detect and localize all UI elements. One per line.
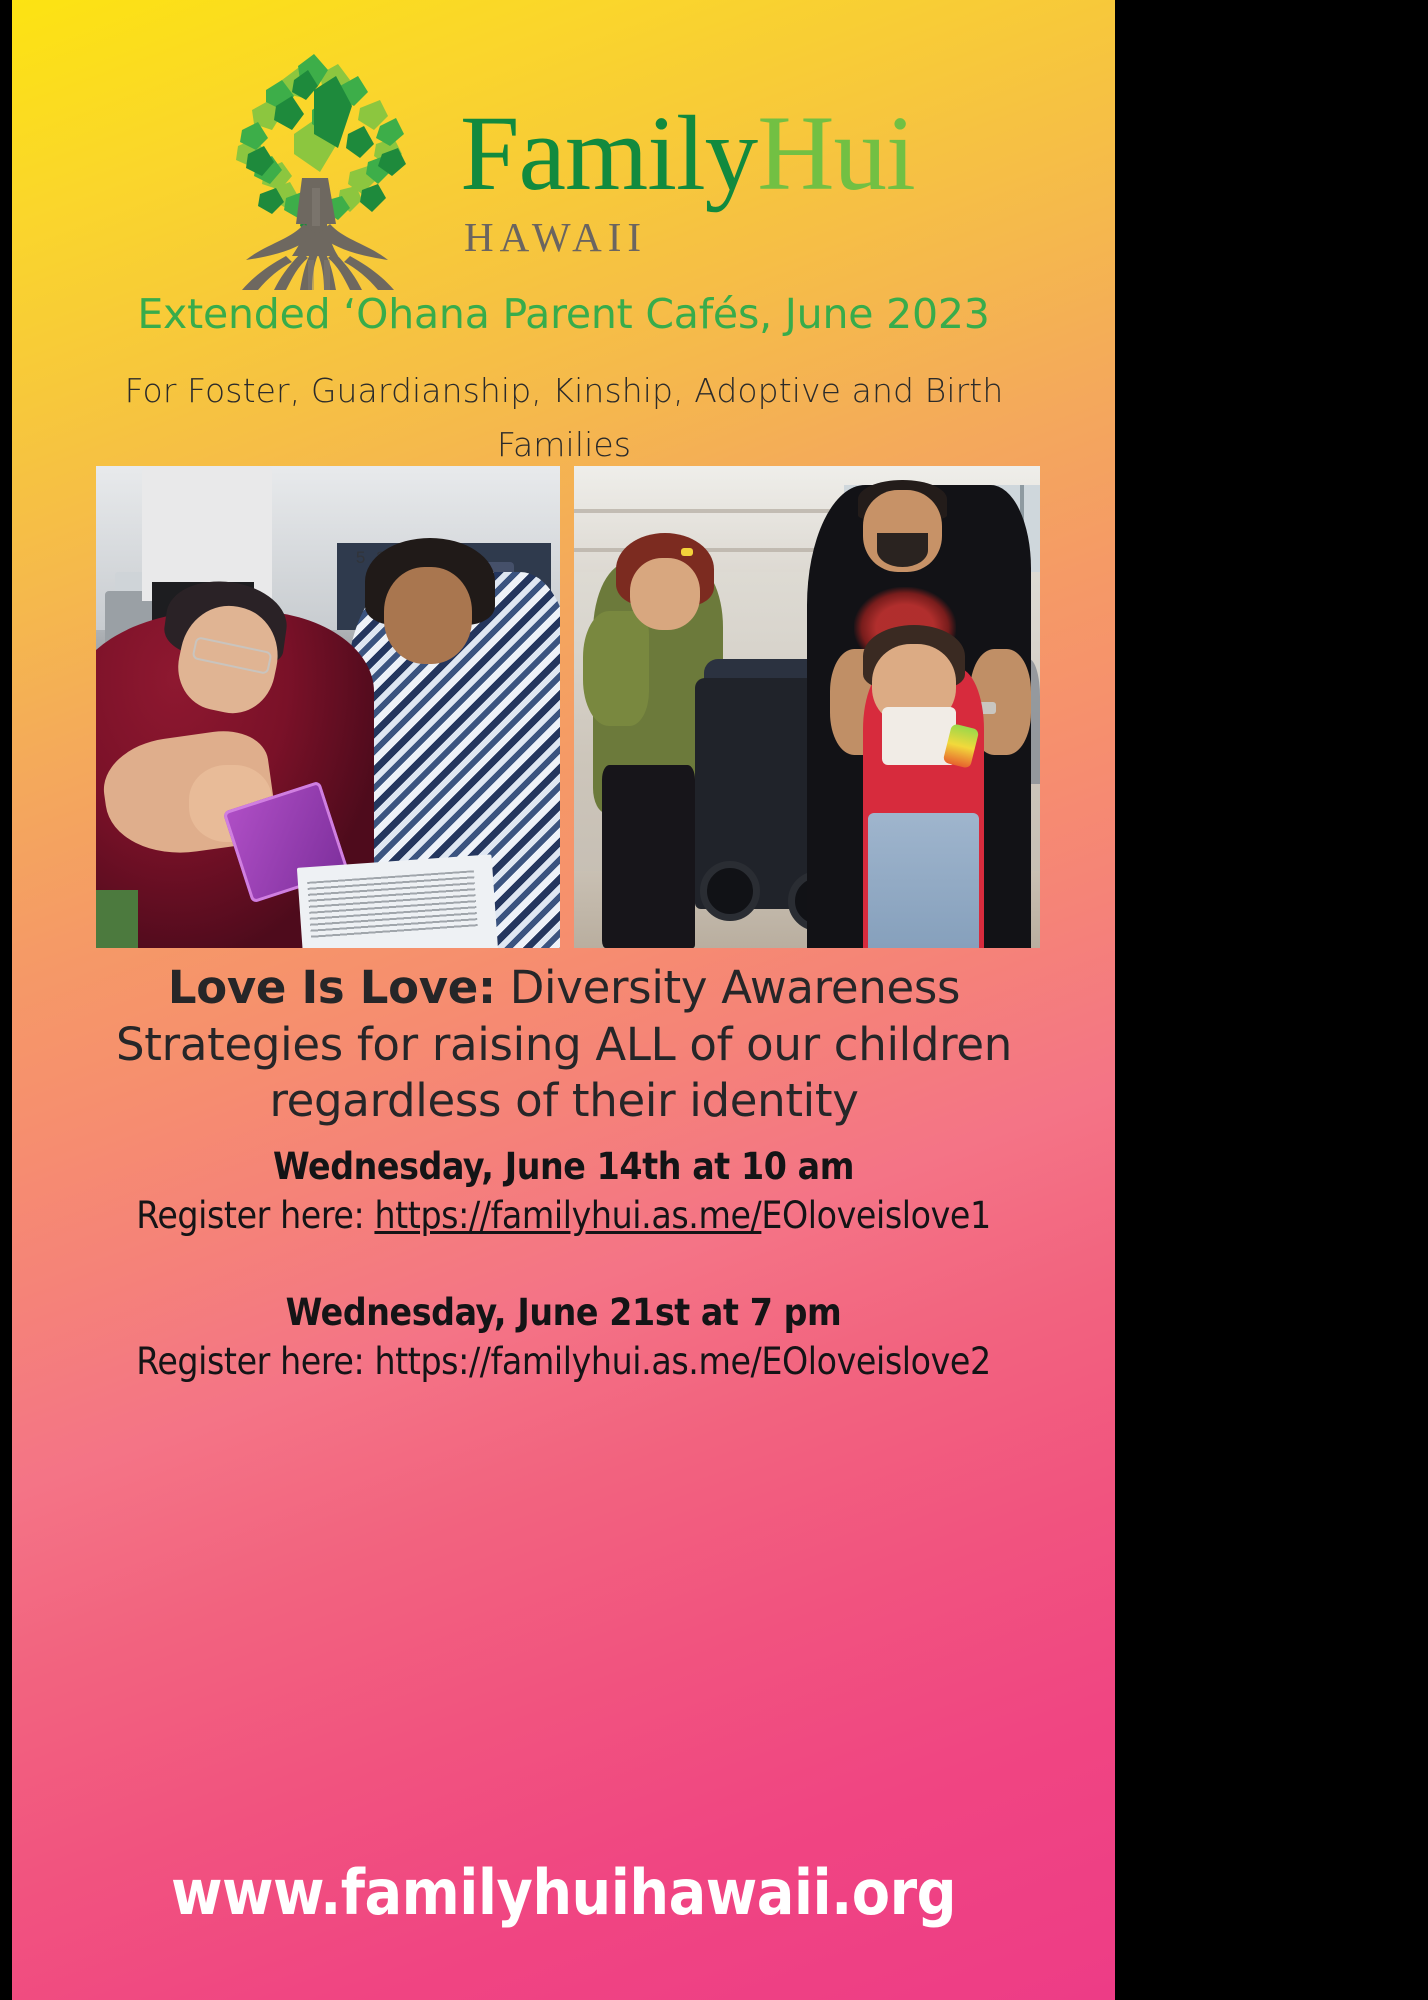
series-title: Extended ‘Ohana Parent Cafés, June 2023 bbox=[12, 290, 1115, 338]
wordmark-hawaii: HAWAII bbox=[464, 213, 1020, 261]
session-2: Wednesday, June 21st at 7 pm Register he… bbox=[72, 1291, 1055, 1383]
photo-row: 5 2 bbox=[96, 466, 1040, 948]
logo-wordmark: FamilyHui HAWAII bbox=[460, 100, 1020, 261]
headline-emphasis: Love Is Love: bbox=[168, 961, 496, 1014]
poster-canvas: FamilyHui HAWAII Extended ‘Ohana Parent … bbox=[12, 0, 1115, 2000]
headline: Love Is Love: Diversity Awareness Strate… bbox=[82, 960, 1046, 1130]
wordmark-line: FamilyHui bbox=[460, 100, 1020, 209]
session-1-register-label: Register here: bbox=[136, 1194, 364, 1237]
website-url[interactable]: www.familyhuihawaii.org bbox=[12, 1856, 1115, 1929]
session-1-registration: Register here: https://familyhui.as.me/E… bbox=[72, 1194, 1055, 1237]
wordmark-hui: Hui bbox=[757, 95, 915, 213]
session-2-date: Wednesday, June 21st at 7 pm bbox=[72, 1291, 1055, 1334]
poster: FamilyHui HAWAII Extended ‘Ohana Parent … bbox=[0, 0, 1428, 2000]
audience-line: For Foster, Guardianship, Kinship, Adopt… bbox=[74, 364, 1054, 473]
sessions-list: Wednesday, June 14th at 10 am Register h… bbox=[72, 1145, 1055, 1437]
logo: FamilyHui HAWAII bbox=[12, 38, 1115, 288]
right-letterbox bbox=[1115, 0, 1428, 2000]
session-1-url-tail: EOloveislove1 bbox=[761, 1194, 990, 1237]
tree-with-roots-icon bbox=[190, 38, 442, 290]
session-1: Wednesday, June 14th at 10 am Register h… bbox=[72, 1145, 1055, 1237]
session-2-register-label: Register here: bbox=[136, 1340, 364, 1383]
wordmark-family: Family bbox=[460, 95, 757, 213]
session-1-date: Wednesday, June 14th at 10 am bbox=[72, 1145, 1055, 1188]
session-2-register-link[interactable]: https://familyhui.as.me/EOloveislove2 bbox=[374, 1340, 990, 1383]
session-1-register-link[interactable]: https://familyhui.as.me/ bbox=[374, 1194, 761, 1237]
session-2-registration: Register here: https://familyhui.as.me/E… bbox=[72, 1340, 1055, 1383]
photo-man-holding-toddler bbox=[574, 466, 1040, 948]
photo-parent-and-child-with-phone: 5 2 bbox=[96, 466, 560, 948]
